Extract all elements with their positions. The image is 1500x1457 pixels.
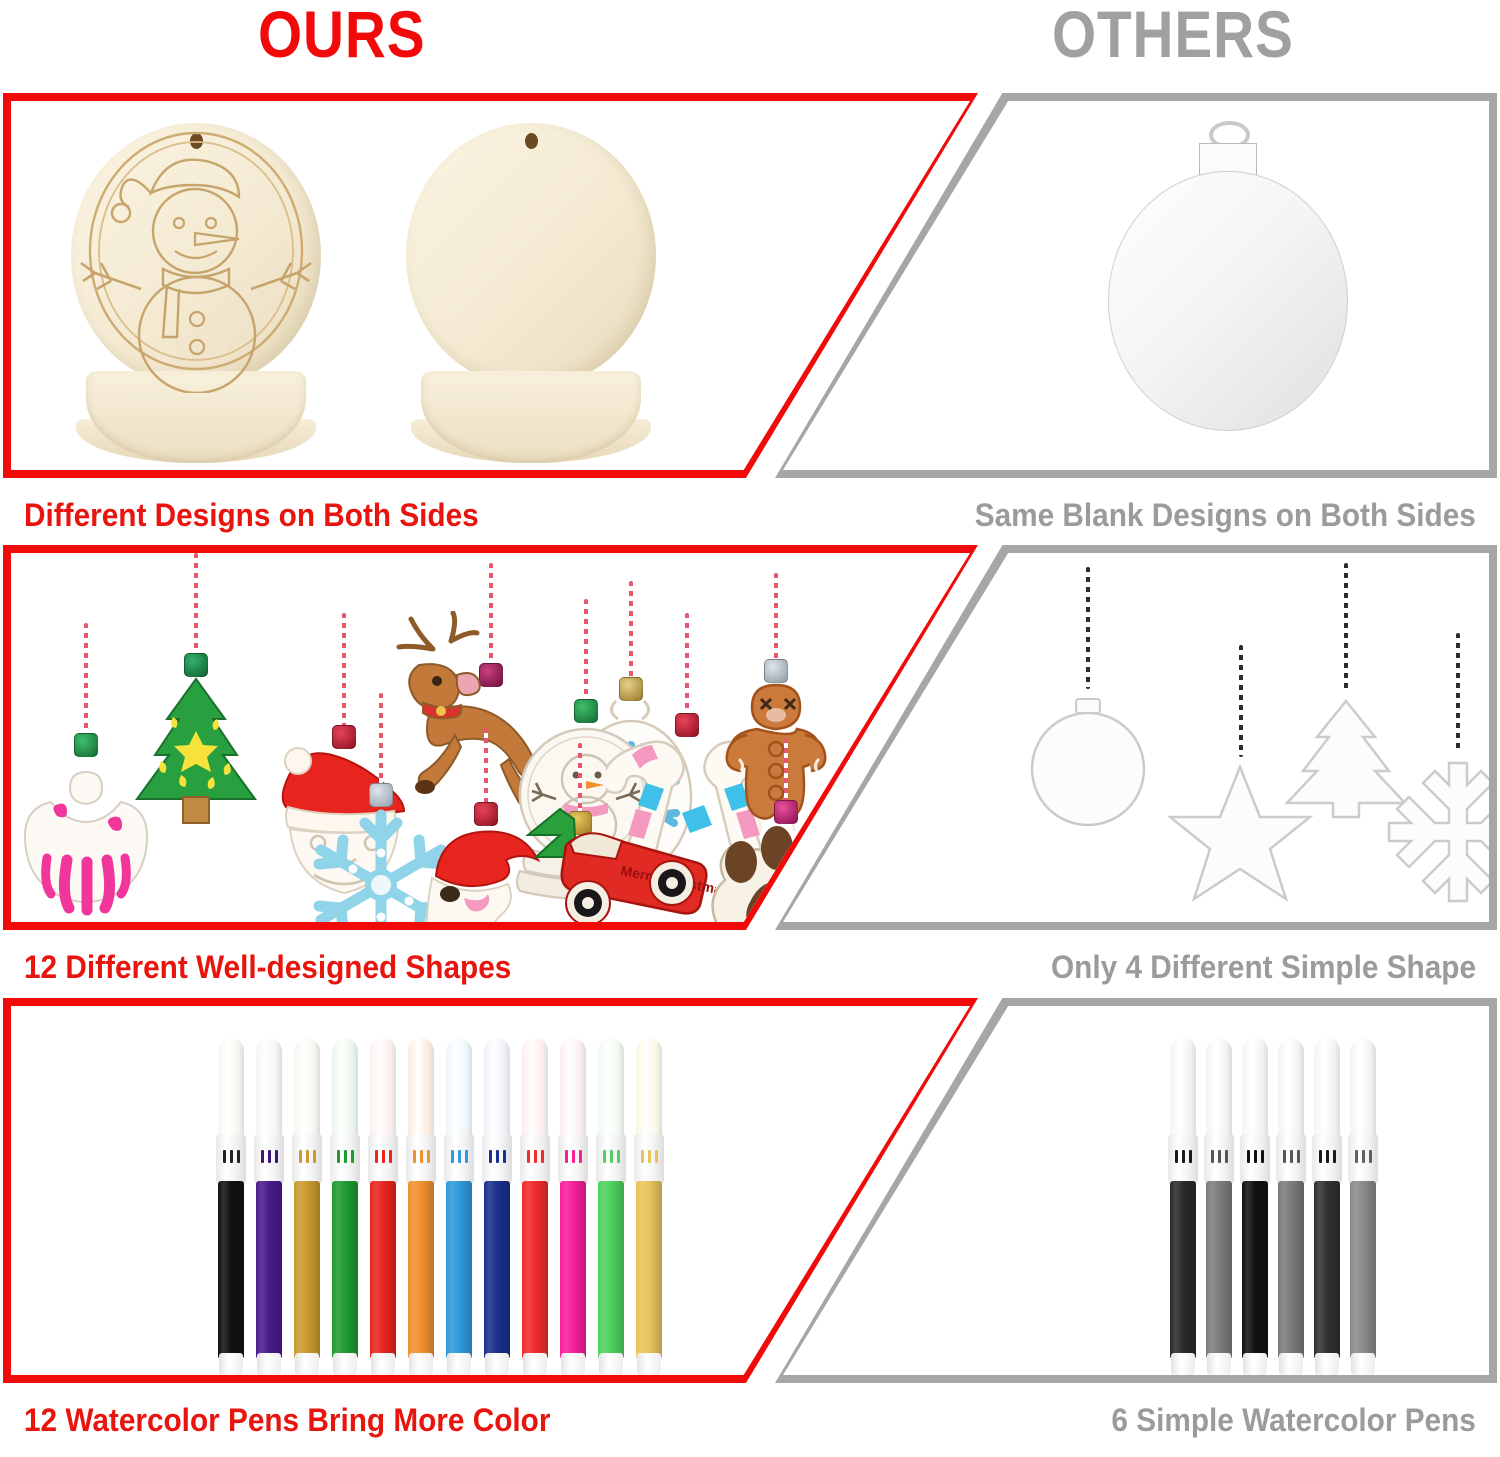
pen-tail [1243, 1353, 1267, 1379]
pen-tail [447, 1353, 471, 1379]
pen-vents [1319, 1150, 1336, 1163]
pen-vents [1247, 1150, 1264, 1163]
pen-vents [489, 1150, 506, 1163]
snowflake-blank-shape [1383, 759, 1500, 909]
comparison-infographic: OURS OTHERS [0, 0, 1500, 1457]
red-truck-shape: Merry Christmas [516, 799, 716, 939]
pen-vents [565, 1150, 582, 1163]
pen-barrel [522, 1181, 548, 1359]
others-caption-row-1: Same Blank Designs on Both Sides [975, 497, 1476, 534]
pen-barrel [1350, 1181, 1376, 1359]
pen-barrel [332, 1181, 358, 1359]
blank-ball-shape [1028, 567, 1148, 857]
pen-barrel [1314, 1181, 1340, 1359]
pen-vents [603, 1150, 620, 1163]
pen-tail [219, 1353, 243, 1379]
pen-vents [451, 1150, 468, 1163]
red-truck-ornament: Merry Christmas [516, 743, 716, 938]
pen-vents [641, 1150, 658, 1163]
pen-tail [1315, 1353, 1339, 1379]
header-ours: OURS [258, 0, 425, 72]
pen-tail [1279, 1353, 1303, 1379]
pen-tail [1171, 1353, 1195, 1379]
pen-vents [413, 1150, 430, 1163]
pen-barrel [370, 1181, 396, 1359]
pen-barrel [256, 1181, 282, 1359]
pen-vents [299, 1150, 316, 1163]
pen-tail [371, 1353, 395, 1379]
pen-barrel [218, 1181, 244, 1359]
pen-tail [637, 1353, 661, 1379]
pen-vents [223, 1150, 240, 1163]
others-caption-row-2: Only 4 Different Simple Shape [1051, 949, 1476, 986]
pen-tail [295, 1353, 319, 1379]
pen-barrel [636, 1181, 662, 1359]
ours-caption-row-1: Different Designs on Both Sides [24, 497, 479, 534]
pen-tail [523, 1353, 547, 1379]
pen-barrel [1278, 1181, 1304, 1359]
pen-vents [375, 1150, 392, 1163]
pen-vents [1355, 1150, 1372, 1163]
pen-tail [333, 1353, 357, 1379]
pen-vents [527, 1150, 544, 1163]
pen-vents [337, 1150, 354, 1163]
ours-caption-row-3: 12 Watercolor Pens Bring More Color [24, 1402, 550, 1439]
pen-tail [1207, 1353, 1231, 1379]
pen-barrel [446, 1181, 472, 1359]
pen-tail [561, 1353, 585, 1379]
pen-tail [1351, 1353, 1375, 1379]
snowman-engraving [71, 123, 321, 393]
pen-barrel [1206, 1181, 1232, 1359]
pen-barrel [1170, 1181, 1196, 1359]
pen-vents [1175, 1150, 1192, 1163]
christmas-tree-ornament [121, 553, 271, 823]
pen-vents [1211, 1150, 1228, 1163]
wooden-snow-globe-etched-snowman [71, 123, 321, 463]
comparison-row-2: Merry Christmas [0, 545, 1500, 930]
pen-tail [409, 1353, 433, 1379]
ours-caption-row-2: 12 Different Well-designed Shapes [24, 949, 511, 986]
pen-tail [599, 1353, 623, 1379]
comparison-row-3 [0, 998, 1500, 1383]
pen-barrel [484, 1181, 510, 1359]
wooden-snow-globe-blank [406, 123, 656, 463]
others-caption-row-3: 6 Simple Watercolor Pens [1112, 1402, 1476, 1439]
pen-barrel [408, 1181, 434, 1359]
pen-barrel [294, 1181, 320, 1359]
pen-vents [1283, 1150, 1300, 1163]
pen-barrel [1242, 1181, 1268, 1359]
plain-white-bauble [1108, 121, 1348, 431]
header-others: OTHERS [1052, 0, 1294, 72]
pen-tail [485, 1353, 509, 1379]
comparison-row-1 [0, 93, 1500, 478]
blank-snowflake-shape [1383, 633, 1500, 923]
pen-vents [261, 1150, 278, 1163]
ball-shape [1028, 695, 1148, 835]
tree-shape [121, 675, 271, 825]
pen-tail [257, 1353, 281, 1379]
pen-barrel [560, 1181, 586, 1359]
pen-barrel [598, 1181, 624, 1359]
